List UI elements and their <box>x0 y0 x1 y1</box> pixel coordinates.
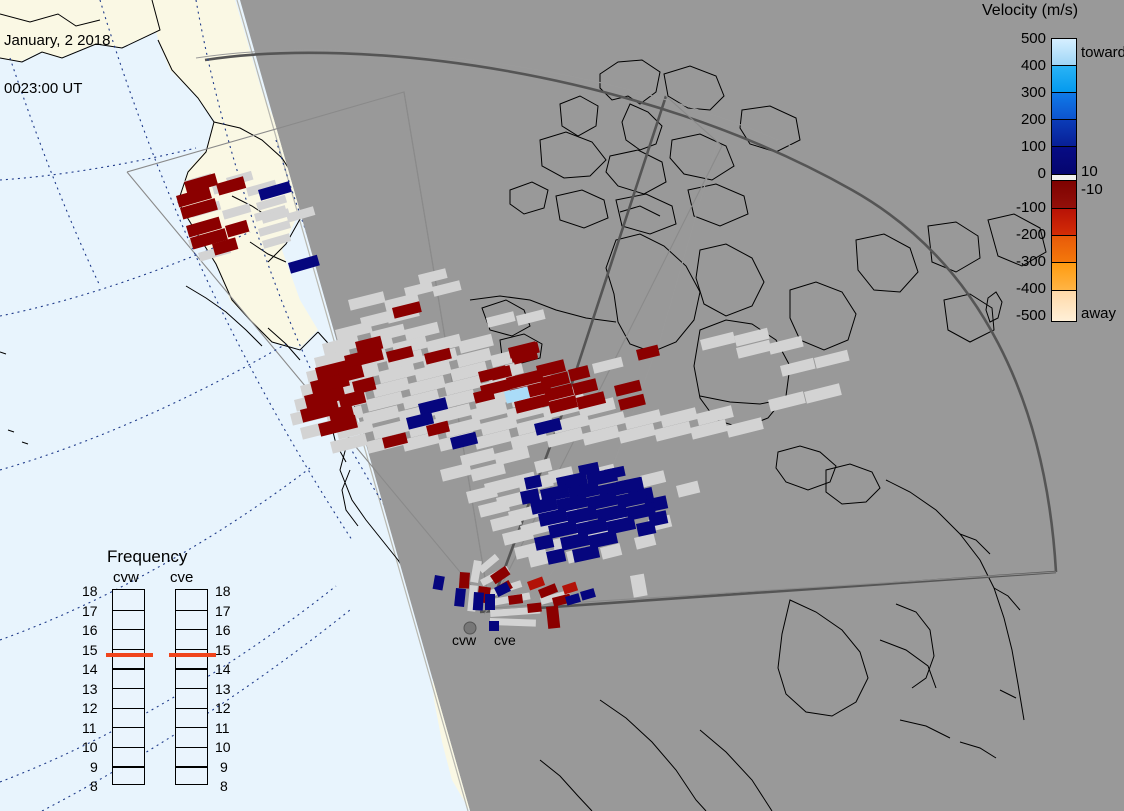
freq-tick-cve-13: 13 <box>215 681 231 697</box>
freq-tick-cvw-16: 16 <box>82 622 98 638</box>
frequency-column-cvw-label: cvw <box>113 569 139 586</box>
freq-tick-cvw-13: 13 <box>82 681 98 697</box>
velocity-tick-n400: -400 <box>1016 280 1046 297</box>
freq-tick-cvw-8: 8 <box>90 778 98 794</box>
band-neg300-400 <box>1052 263 1076 290</box>
band-neg10-100 <box>1052 181 1076 208</box>
velocity-colorbar: Velocity (m/s) 500 400 300 <box>980 0 1124 340</box>
frequency-bar-cve <box>175 589 208 785</box>
freq-tick-cve-14: 14 <box>215 661 231 677</box>
frequency-marker-cvw <box>106 653 153 657</box>
band-300-400 <box>1052 66 1076 92</box>
radar-site-label-cvw: cvw <box>452 632 476 648</box>
time-label: 0023:00 UT <box>4 81 110 97</box>
velocity-tick-400: 400 <box>1021 57 1046 74</box>
freq-tick-cvw-18: 18 <box>82 583 98 599</box>
freq-tick-cve-17: 17 <box>215 603 231 619</box>
frequency-bar-cvw <box>112 589 145 785</box>
velocity-tick-0: 0 <box>1038 165 1046 182</box>
timestamp-block: January, 2 2018 0023:00 UT <box>4 1 110 129</box>
frequency-column-cve-label: cve <box>170 569 193 586</box>
freq-tick-cvw-12: 12 <box>82 700 98 716</box>
band-10-100 <box>1052 147 1076 174</box>
band-200-300 <box>1052 93 1076 119</box>
freq-tick-cvw-9: 9 <box>90 759 98 775</box>
band-400-500 <box>1052 39 1076 65</box>
velocity-colorbar-gradient <box>1051 38 1077 322</box>
velocity-tick-300: 300 <box>1021 84 1046 101</box>
freq-tick-cve-15: 15 <box>215 642 231 658</box>
velocity-tick-100: 100 <box>1021 138 1046 155</box>
frequency-legend: Frequency cvw cve 18 17 16 15 14 13 12 <box>82 547 246 787</box>
freq-tick-cve-12: 12 <box>215 700 231 716</box>
toward-label: toward <box>1081 44 1124 61</box>
freq-tick-cve-9: 9 <box>220 759 228 775</box>
freq-tick-cve-11: 11 <box>215 720 230 736</box>
freq-tick-cve-8: 8 <box>220 778 228 794</box>
velocity-tick-n500: -500 <box>1016 307 1046 324</box>
freq-tick-cve-16: 16 <box>215 622 231 638</box>
radar-map-figure: January, 2 2018 0023:00 UT Velocity (m/s… <box>0 0 1124 811</box>
frequency-legend-title: Frequency <box>107 547 187 567</box>
velocity-colorbar-title: Velocity (m/s) <box>982 2 1124 20</box>
freq-tick-cvw-11: 11 <box>82 720 97 736</box>
band-neg100-200 <box>1052 209 1076 235</box>
freq-tick-cvw-10: 10 <box>82 739 98 755</box>
freq-tick-cvw-17: 17 <box>82 603 98 619</box>
band-neg400-500 <box>1052 291 1076 321</box>
velocity-tick-n300: -300 <box>1016 253 1046 270</box>
velocity-tick-500: 500 <box>1021 30 1046 47</box>
frequency-marker-cve <box>169 653 216 657</box>
radar-site-label-cve: cve <box>494 632 516 648</box>
freq-tick-cve-18: 18 <box>215 583 231 599</box>
freq-tick-cve-10: 10 <box>215 739 231 755</box>
band-zero-gap <box>1052 174 1076 181</box>
freq-tick-cvw-15: 15 <box>82 642 98 658</box>
date-label: January, 2 2018 <box>4 33 110 49</box>
velocity-tick-n200: -200 <box>1016 226 1046 243</box>
near-zero-positive-label: 10 <box>1081 163 1098 180</box>
velocity-tick-200: 200 <box>1021 111 1046 128</box>
freq-tick-cvw-14: 14 <box>82 661 98 677</box>
velocity-tick-n100: -100 <box>1016 199 1046 216</box>
band-neg200-300 <box>1052 236 1076 262</box>
near-zero-negative-label: -10 <box>1081 181 1103 198</box>
away-label: away <box>1081 305 1116 322</box>
band-100-200 <box>1052 120 1076 146</box>
